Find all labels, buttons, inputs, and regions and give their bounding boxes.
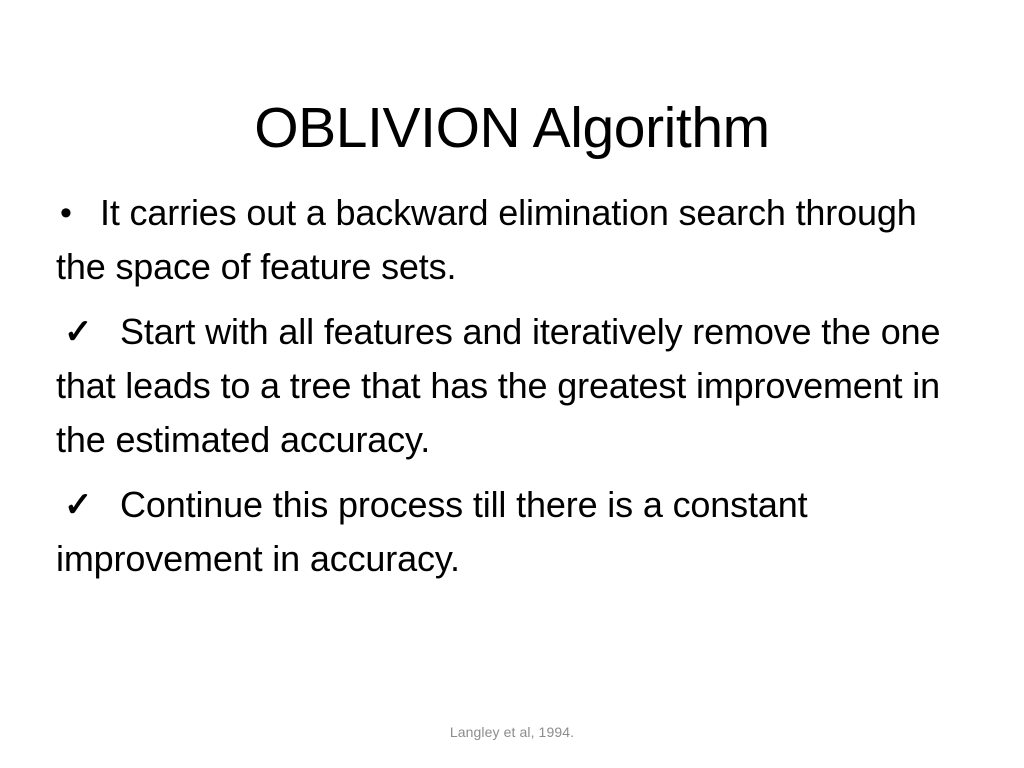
- list-item-text: It carries out a backward elimination se…: [56, 192, 917, 287]
- list-item-text: Start with all features and iteratively …: [56, 311, 940, 460]
- list-item: • It carries out a backward elimination …: [56, 186, 968, 294]
- checkmark-icon: ✓: [56, 478, 108, 532]
- page-title: OBLIVION Algorithm: [0, 94, 1024, 162]
- list-item: ✓ Continue this process till there is a …: [56, 478, 968, 586]
- slide-canvas: OBLIVION Algorithm • It carries out a ba…: [0, 0, 1024, 768]
- source-citation: Langley et al, 1994.: [0, 722, 1024, 742]
- list-item: ✓ Start with all features and iterativel…: [56, 305, 968, 467]
- bullet-dot-icon: •: [56, 186, 104, 240]
- list-item-text: Continue this process till there is a co…: [56, 484, 807, 579]
- checkmark-icon: ✓: [56, 305, 108, 359]
- slide-body: • It carries out a backward elimination …: [56, 186, 968, 586]
